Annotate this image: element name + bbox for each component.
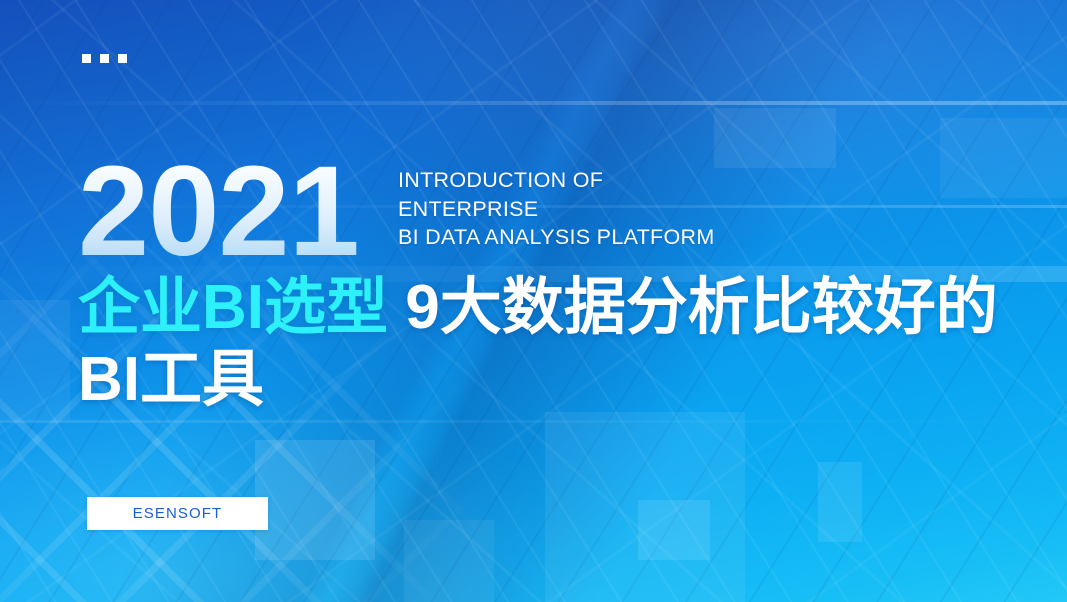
year-label: 2021 (78, 148, 359, 276)
presentation-title-slide: 2021 INTRODUCTION OF ENTERPRISE BI DATA … (0, 0, 1067, 602)
background-glass-reflection-5 (638, 500, 710, 560)
english-subtitle-line-1: INTRODUCTION OF (398, 166, 715, 195)
square-dot-icon-1 (82, 54, 91, 63)
english-subtitle: INTRODUCTION OF ENTERPRISE BI DATA ANALY… (398, 166, 715, 252)
english-subtitle-line-3: BI DATA ANALYSIS PLATFORM (398, 223, 715, 252)
background-glass-reflection-7 (404, 520, 494, 602)
brand-button-label: ESENSOFT (133, 505, 223, 522)
background-glass-reflection-6 (818, 462, 862, 542)
background-glass-reflection-4 (545, 412, 745, 602)
background-glass-reflection-3 (255, 440, 375, 560)
square-dot-icon-3 (118, 54, 127, 63)
decorative-dots (82, 54, 127, 63)
background-glass-reflection-8 (0, 300, 70, 420)
page-title-accent: 企业BI选型 (78, 273, 388, 342)
square-dot-icon-2 (100, 54, 109, 63)
brand-button[interactable]: ESENSOFT (87, 497, 268, 530)
english-subtitle-line-2: ENTERPRISE (398, 195, 715, 224)
background-light-band-4 (0, 420, 1067, 423)
page-title: 企业BI选型 9大数据分析比较好的BI工具 (78, 272, 1038, 416)
background-glass-reflection-1 (714, 108, 836, 168)
background-glass-reflection-2 (940, 118, 1067, 198)
background-light-band-1 (0, 101, 1067, 105)
